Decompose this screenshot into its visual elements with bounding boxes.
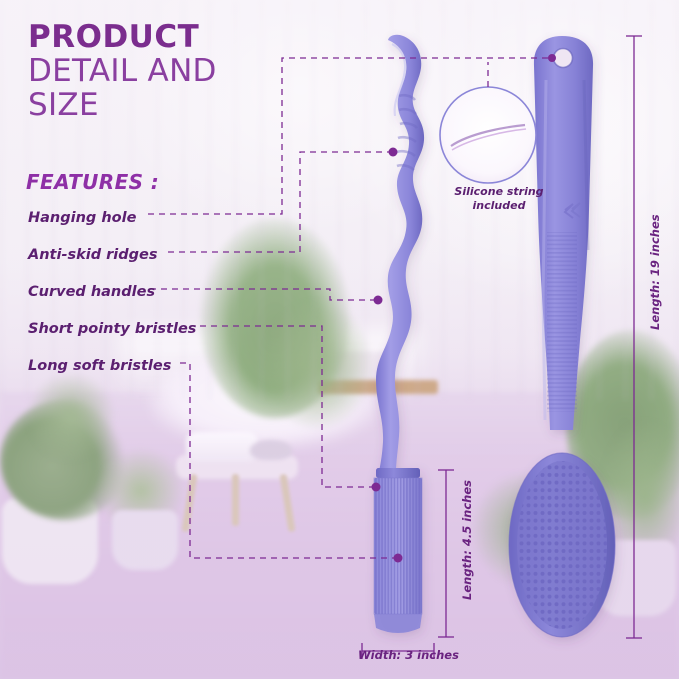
dimension-label-total-length: Length: 19 inches xyxy=(648,214,662,330)
dimension-label-bristle-length: Length: 4.5 inches xyxy=(460,480,474,600)
product-left-short-pointy-bristle-brush xyxy=(374,35,424,633)
page-title: PRODUCT DETAIL AND SIZE xyxy=(28,22,217,123)
left-brush-head-base xyxy=(376,468,420,478)
feature-item-anti-skid-ridges: Anti-skid ridges xyxy=(28,247,157,263)
title-line-2: DETAIL AND xyxy=(28,54,217,89)
feature-item-hanging-hole: Hanging hole xyxy=(28,210,136,226)
feature-item-short-pointy-bristles: Short pointy bristles xyxy=(28,321,196,337)
product-detail-infographic: PRODUCT DETAIL AND SIZE FEATURES : Hangi… xyxy=(0,0,679,679)
feature-item-curved-handles: Curved handles xyxy=(28,284,155,300)
silicone-string-caption: Silicone string included xyxy=(438,185,560,213)
feature-item-long-soft-bristles: Long soft bristles xyxy=(28,358,171,374)
anti-skid-ridges-right xyxy=(547,232,577,412)
features-heading: FEATURES : xyxy=(26,170,159,194)
silicone-string-magnifier xyxy=(440,87,536,183)
title-line-1: PRODUCT xyxy=(28,22,217,54)
title-line-3: SIZE xyxy=(28,88,217,123)
dimension-label-width: Width: 3 inches xyxy=(358,648,459,662)
right-brush-bristles xyxy=(517,461,607,629)
